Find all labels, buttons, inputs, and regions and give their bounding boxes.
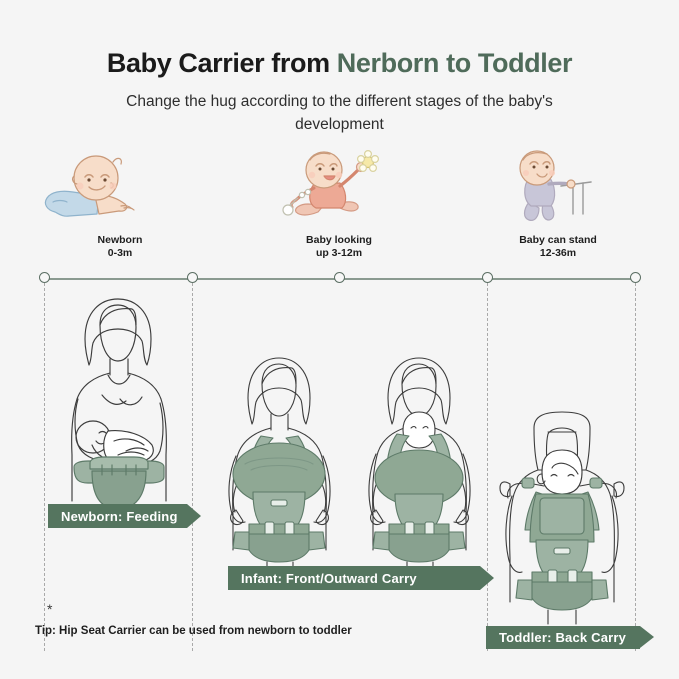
newborn-feeding-illustration — [52, 295, 184, 520]
infographic-root: Baby Carrier from Nerborn to Toddler Cha… — [0, 0, 679, 679]
title-main-text: Baby Carrier from — [107, 48, 337, 78]
stage-stand-line2: 12-36m — [463, 247, 653, 260]
page-title: Baby Carrier from Nerborn to Toddler — [0, 48, 679, 79]
toddler-back-carry-illustration — [492, 412, 634, 624]
banner-infant-front-outward: Infant: Front/Outward Carry — [228, 566, 480, 590]
stage-looking-line2: up 3-12m — [244, 247, 434, 260]
banner-newborn-feeding: Newborn: Feeding — [48, 504, 187, 528]
title-accent-text: Nerborn to Toddler — [337, 48, 572, 78]
banner-toddler-back-carry: Toddler: Back Carry — [486, 626, 640, 649]
baby-standing-rail-icon — [463, 150, 653, 228]
timeline-node-3 — [482, 272, 493, 283]
divider-dashed-1 — [192, 283, 193, 651]
divider-dashed-0 — [44, 283, 45, 651]
banner-newborn-label: Newborn: Feeding — [61, 509, 178, 524]
baby-sitting-reaching-icon — [244, 150, 434, 228]
stage-newborn: Newborn 0-3m — [25, 150, 215, 260]
footnote-tip-text: Tip: Hip Seat Carrier can be used from n… — [35, 625, 352, 637]
stage-baby-can-stand-label: Baby can stand 12-36m — [463, 234, 653, 260]
stage-baby-looking-up-label: Baby looking up 3-12m — [244, 234, 434, 260]
banner-arrow-tip-icon — [187, 504, 201, 528]
stage-newborn-line1: Newborn — [25, 234, 215, 247]
timeline-node-1 — [187, 272, 198, 283]
timeline-node-0 — [39, 272, 50, 283]
divider-dashed-3 — [635, 283, 636, 651]
page-subtitle: Change the hug according to the differen… — [108, 90, 571, 136]
stage-baby-looking-up: Baby looking up 3-12m — [244, 150, 434, 260]
stage-looking-line1: Baby looking — [244, 234, 434, 247]
timeline-node-2 — [334, 272, 345, 283]
newborn-feeding-panel — [52, 295, 184, 520]
stage-baby-can-stand: Baby can stand 12-36m — [463, 150, 653, 260]
infant-front-outward-panel — [205, 352, 483, 567]
banner-toddler-label: Toddler: Back Carry — [499, 630, 626, 645]
stage-newborn-line2: 0-3m — [25, 247, 215, 260]
footnote-asterisk: * — [47, 604, 52, 614]
banner-arrow-tip-icon — [640, 626, 654, 648]
infant-front-outward-illustration — [205, 352, 483, 567]
stage-stand-line1: Baby can stand — [463, 234, 653, 247]
banner-infant-label: Infant: Front/Outward Carry — [241, 571, 417, 586]
baby-lying-tummy-icon — [25, 150, 215, 228]
timeline-node-4 — [630, 272, 641, 283]
divider-dashed-2 — [487, 283, 488, 651]
toddler-back-carry-panel — [492, 412, 634, 624]
stage-newborn-label: Newborn 0-3m — [25, 234, 215, 260]
